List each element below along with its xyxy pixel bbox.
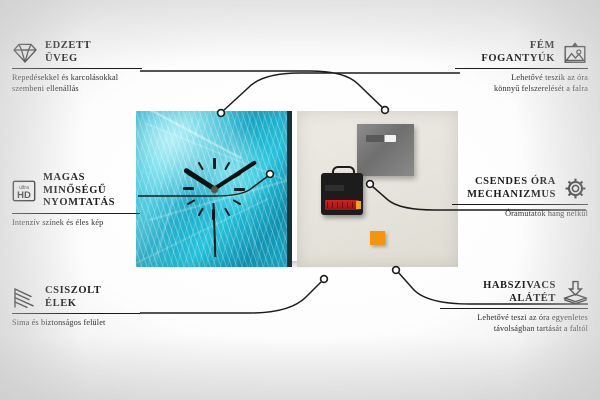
callout-subtitle: Intenzív színek és éles kép [12,218,140,228]
divider [452,204,588,205]
gear-icon [563,176,588,201]
callout-header: CSISZOLT ÉLEK [12,285,140,310]
clock-center-cap [211,186,218,193]
divider [440,308,588,309]
hanger-slot [366,135,396,142]
callout-title: HABSZIVACS ALÁTÉT [483,280,556,305]
infographic-canvas: EDZETT ÜVEG Repedésekkel és karcolásokka… [0,0,600,400]
clock-mechanism [321,173,363,215]
divider [12,68,142,69]
callout-csendes-ora-mechanizmus[interactable]: CSENDES ÓRA MECHANIZMUS Óramutatók hang … [452,176,588,220]
callout-title: CSISZOLT ÉLEK [45,285,101,310]
divider [12,213,140,214]
diamond-icon [12,42,38,64]
foam-pad-arrow-icon [563,280,588,305]
connector-line-fem-fogantyuk [223,73,460,111]
battery-label [327,202,353,208]
polished-edges-icon [12,287,38,309]
metal-hanger-plate [357,124,414,176]
divider [12,313,140,314]
callout-subtitle: Lehetővé teszik az óra könnyű felszerelé… [455,73,588,93]
callout-header: EDZETT ÜVEG [12,40,142,65]
product-image [136,111,458,267]
callout-subtitle: Sima és biztonságos felület [12,318,140,328]
connector-line-csiszolt-elek [140,281,322,313]
ultra-hd-icon: ultra HD [12,180,36,202]
battery-terminal [356,201,361,209]
callout-title: FÉM FOGANTYÚK [481,40,555,65]
callout-subtitle: Repedésekkel és karcolásokkal szembeni e… [12,73,142,93]
callout-habszivacs-alatet[interactable]: HABSZIVACS ALÁTÉT Lehetővé teszi az óra … [440,280,588,334]
callout-subtitle: Óramutatók hang nélkül [452,209,588,219]
clock-back-panel [297,111,458,267]
callout-title: MAGAS MINŐSÉGŰ NYOMTATÁS [43,172,140,210]
callout-subtitle: Lehetővé teszi az óra egyenletes távolsá… [440,313,588,333]
callout-fem-fogantyuk[interactable]: FÉM FOGANTYÚK Lehetővé teszik az óra kön… [455,40,588,94]
svg-text:HD: HD [17,190,31,201]
callout-header: FÉM FOGANTYÚK [455,40,588,65]
mechanism-hook [332,166,355,178]
connector-line-edzett-uveg [140,71,383,108]
callout-edzett-uveg[interactable]: EDZETT ÜVEG Repedésekkel és karcolásokka… [12,40,142,94]
picture-hanger-icon [562,41,588,64]
callout-header: ultra HD MAGAS MINŐSÉGŰ NYOMTATÁS [12,172,140,210]
callout-magas-minosegu-nyomtatas[interactable]: ultra HD MAGAS MINŐSÉGŰ NYOMTATÁS Intenz… [12,172,140,228]
callout-header: CSENDES ÓRA MECHANIZMUS [452,176,588,201]
clock-front-face [136,111,292,267]
callout-title: EDZETT ÜVEG [45,40,91,65]
mechanism-detail [325,185,344,191]
battery [325,200,359,210]
callout-header: HABSZIVACS ALÁTÉT [440,280,588,305]
callout-csiszolt-elek[interactable]: CSISZOLT ÉLEK Sima és biztonságos felüle… [12,285,140,329]
divider [455,68,588,69]
foam-pad [370,231,385,245]
glass-edge [287,111,292,267]
callout-title: CSENDES ÓRA MECHANIZMUS [467,176,556,201]
